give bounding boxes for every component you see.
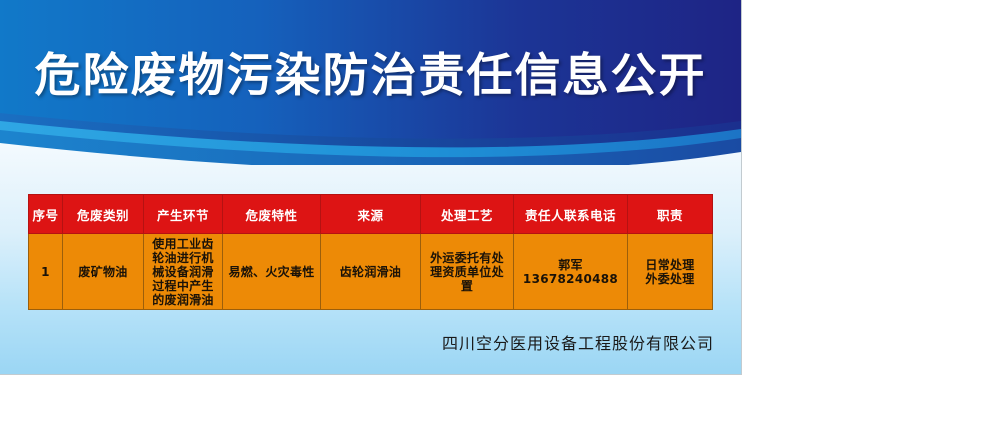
col-header-property: 危废特性: [223, 195, 321, 234]
table-row: 1 废矿物油 使用工业齿轮油进行机械设备润滑过程中产生的废润滑油 易燃、火灾毒性…: [29, 234, 713, 310]
table-header-row: 序号 危废类别 产生环节 危废特性 来源 处理工艺 责任人联系电话 职责: [29, 195, 713, 234]
hazardous-waste-table: 序号 危废类别 产生环节 危废特性 来源 处理工艺 责任人联系电话 职责 1 废…: [28, 194, 713, 310]
col-header-process: 处理工艺: [421, 195, 514, 234]
col-header-seq: 序号: [29, 195, 63, 234]
poster-canvas: 危险废物污染防治责任信息公开 序号 危废类别 产生环节 危废特性 来源 处理工艺…: [0, 0, 741, 374]
cell-property: 易燃、火灾毒性: [223, 234, 321, 310]
contact-name: 郭军: [517, 258, 624, 272]
cell-process: 外运委托有处理资质单位处置: [421, 234, 514, 310]
cell-seq: 1: [29, 234, 63, 310]
company-name: 四川空分医用设备工程股份有限公司: [0, 330, 714, 354]
cell-category: 废矿物油: [63, 234, 144, 310]
col-header-stage: 产生环节: [144, 195, 223, 234]
col-header-contact: 责任人联系电话: [514, 195, 628, 234]
page-title: 危险废物污染防治责任信息公开: [0, 47, 741, 103]
header-banner: 危险废物污染防治责任信息公开: [0, 0, 741, 165]
col-header-source: 来源: [321, 195, 421, 234]
cell-stage: 使用工业齿轮油进行机械设备润滑过程中产生的废润滑油: [144, 234, 223, 310]
contact-phone: 13678240488: [517, 272, 624, 286]
cell-duty: 日常处理 外委处理: [628, 234, 713, 310]
col-header-category: 危废类别: [63, 195, 144, 234]
cell-source: 齿轮润滑油: [321, 234, 421, 310]
cell-contact: 郭军 13678240488: [514, 234, 628, 310]
col-header-duty: 职责: [628, 195, 713, 234]
